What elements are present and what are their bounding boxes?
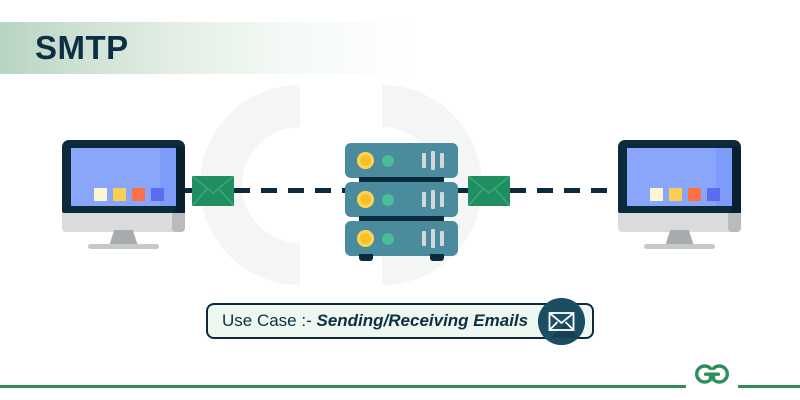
desktop-icon-row <box>650 188 720 201</box>
monitor-bezel-shadow <box>175 146 185 218</box>
monitor-chin-shade <box>728 213 741 232</box>
status-led-icon <box>382 155 394 167</box>
use-case-value: Sending/Receiving Emails <box>316 311 528 330</box>
geeksforgeeks-logo <box>688 357 736 389</box>
activity-bars-icon <box>422 229 444 248</box>
desktop-icon-3 <box>132 188 145 201</box>
connection-line-segment <box>234 188 346 193</box>
desktop-icon-4 <box>151 188 164 201</box>
monitor-stand-base <box>644 244 715 249</box>
power-led-icon <box>357 230 374 247</box>
server-unit <box>345 182 458 217</box>
status-led-icon <box>382 194 394 206</box>
use-case-lead: Use Case :- <box>222 311 316 330</box>
desktop-icon-2 <box>669 188 682 201</box>
power-led-icon <box>357 152 374 169</box>
server-unit <box>345 143 458 178</box>
diagram-canvas: SMTP <box>0 0 800 400</box>
monitor-chin <box>618 213 741 232</box>
footer-rule <box>0 385 800 388</box>
rack-foot <box>359 254 373 261</box>
desktop-icon-4 <box>707 188 720 201</box>
activity-bars-icon <box>422 190 444 209</box>
desktop-icon-1 <box>650 188 663 201</box>
activity-bars-icon <box>422 151 444 170</box>
email-envelope-outgoing <box>192 176 234 206</box>
client-computer-right <box>618 140 743 248</box>
monitor-chin-shade <box>172 213 185 232</box>
use-case-mail-badge <box>538 298 585 345</box>
monitor-chin <box>62 213 185 232</box>
power-led-icon <box>357 191 374 208</box>
client-computer-left <box>62 140 187 248</box>
connection-line-segment <box>510 188 626 193</box>
desktop-icon-2 <box>113 188 126 201</box>
smtp-server-rack <box>345 143 460 249</box>
use-case-label: Use Case :- Sending/Receiving Emails <box>222 308 552 334</box>
desktop-icon-3 <box>688 188 701 201</box>
desktop-icon-1 <box>94 188 107 201</box>
page-title: SMTP <box>35 27 129 69</box>
envelope-icon <box>538 298 585 345</box>
status-led-icon <box>382 233 394 245</box>
email-envelope-incoming <box>468 176 510 206</box>
rack-foot <box>430 254 444 261</box>
server-unit <box>345 221 458 256</box>
desktop-icon-row <box>94 188 164 201</box>
monitor-bezel-shadow <box>731 146 741 218</box>
monitor-stand-base <box>88 244 159 249</box>
